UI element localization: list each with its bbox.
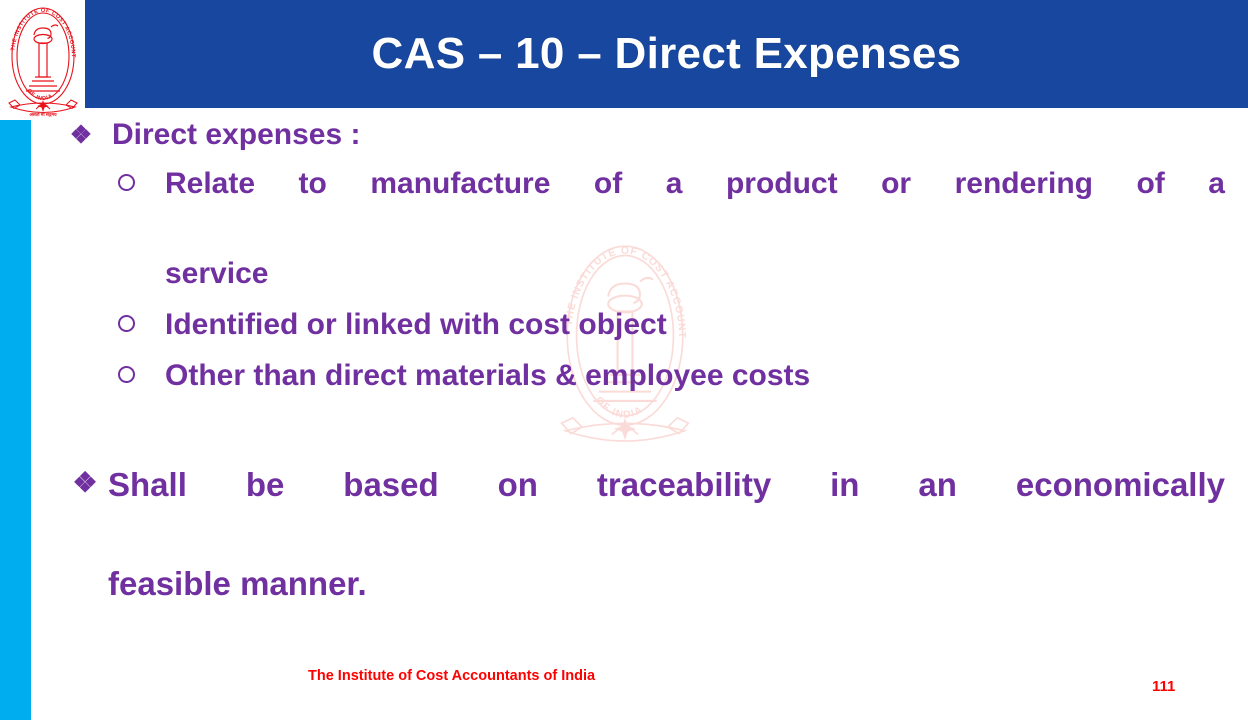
slide-title: CAS – 10 – Direct Expenses [85,0,1248,108]
slide-canvas: CAS – 10 – Direct Expenses THE INSTITUTE… [0,0,1248,720]
footer-organization: The Institute of Cost Accountants of Ind… [308,668,595,684]
closing-statement-text: Shall be based on traceability in an eco… [108,460,1225,559]
svg-text:असतो मा सद्गमय: असतो मा सद्गमय [29,111,57,117]
sub-bullet-list: Relate to manufacture of a product or re… [60,161,1225,398]
sub-bullet-item-1: Relate to manufacture of a product or re… [60,161,1225,296]
sub-bullet-item-1-continuation: service [165,251,1225,296]
diamond-bullet-icon: ❖ [68,122,94,148]
circle-bullet-icon [118,174,135,191]
sub-bullet-item-3: Other than direct materials & employee c… [60,353,1225,398]
bullet-heading: ❖ Direct expenses : [60,118,1225,153]
circle-bullet-icon [118,366,135,383]
page-number: 111 [1152,678,1175,695]
bullet-heading-text: Direct expenses : [112,118,360,151]
institute-logo-icon: THE INSTITUTE OF COST ACCOUNTANTS OF IND… [3,2,83,120]
title-banner: CAS – 10 – Direct Expenses [85,0,1248,108]
sub-bullet-item-3-text: Other than direct materials & employee c… [165,353,1225,398]
diamond-bullet-icon: ❖ [70,468,100,498]
sub-bullet-item-2-text: Identified or linked with cost object [165,302,1225,347]
sub-bullet-item-1-text: Relate to manufacture of a product or re… [165,161,1225,251]
closing-statement: ❖ Shall be based on traceability in an e… [60,460,1225,658]
left-accent-strip [0,120,31,720]
sub-bullet-item-2: Identified or linked with cost object [60,302,1225,347]
slide-body: ❖ Direct expenses : Relate to manufactur… [60,118,1225,658]
closing-statement-continuation: feasible manner. [108,559,1225,609]
circle-bullet-icon [118,315,135,332]
